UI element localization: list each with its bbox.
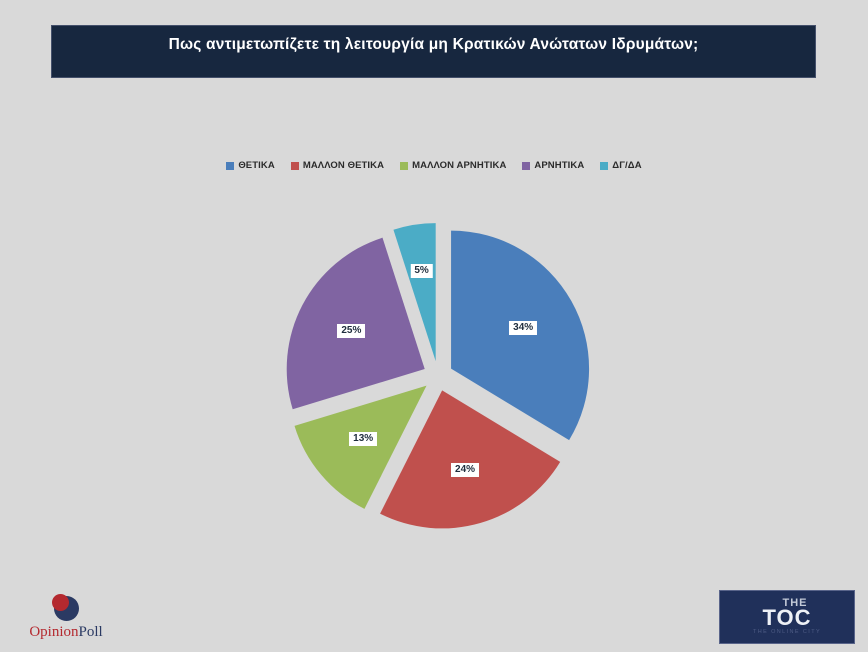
toc-logo-subtitle: THE ONLINE CITY [753, 630, 821, 636]
pie-slice-label: 24% [451, 463, 479, 477]
pie-chart-svg [258, 196, 618, 556]
legend-label: ΜΑΛΛΟΝ ΘΕΤΙΚΑ [303, 160, 384, 171]
legend-swatch-icon [400, 162, 408, 170]
legend-label: ΘΕΤΙΚΑ [238, 160, 275, 171]
pie-chart: 34%24%13%25%5% [258, 196, 618, 556]
legend-item: ΜΑΛΛΟΝ ΘΕΤΙΚΑ [291, 160, 384, 171]
legend-item: ΔΓ/ΔΑ [600, 160, 641, 171]
title-banner: Πως αντιμετωπίζετε τη λειτουργία μη Κρατ… [51, 25, 816, 78]
legend-item: ΜΑΛΛΟΝ ΑΡΝΗΤΙΚΑ [400, 160, 506, 171]
pie-slice-label: 25% [337, 324, 365, 338]
pie-slice-label: 13% [349, 432, 377, 446]
legend-swatch-icon [600, 162, 608, 170]
toc-logo-main: TOC [762, 607, 811, 629]
legend-swatch-icon [226, 162, 234, 170]
opinionpoll-wordmark: OpinionPoll [14, 625, 118, 640]
legend-swatch-icon [522, 162, 530, 170]
opinionpoll-dot-shape [52, 594, 69, 611]
opinionpoll-word-opinion: Opinion [29, 624, 78, 640]
pie-slice-label: 34% [509, 321, 537, 335]
opinionpoll-logo: OpinionPoll [14, 594, 118, 644]
legend-label: ΔΓ/ΔΑ [612, 160, 641, 171]
legend-item: ΘΕΤΙΚΑ [226, 160, 275, 171]
legend-label: ΑΡΝΗΤΙΚΑ [534, 160, 584, 171]
opinionpoll-word-poll: Poll [78, 624, 102, 640]
opinionpoll-mark-icon [51, 594, 81, 624]
legend-item: ΑΡΝΗΤΙΚΑ [522, 160, 584, 171]
legend-swatch-icon [291, 162, 299, 170]
chart-legend: ΘΕΤΙΚΑΜΑΛΛΟΝ ΘΕΤΙΚΑΜΑΛΛΟΝ ΑΡΝΗΤΙΚΑΑΡΝΗΤΙ… [0, 160, 868, 171]
toc-logo: THE TOC THE ONLINE CITY [719, 590, 855, 644]
page-title: Πως αντιμετωπίζετε τη λειτουργία μη Κρατ… [169, 36, 699, 54]
legend-label: ΜΑΛΛΟΝ ΑΡΝΗΤΙΚΑ [412, 160, 506, 171]
pie-slice-label: 5% [410, 264, 432, 278]
